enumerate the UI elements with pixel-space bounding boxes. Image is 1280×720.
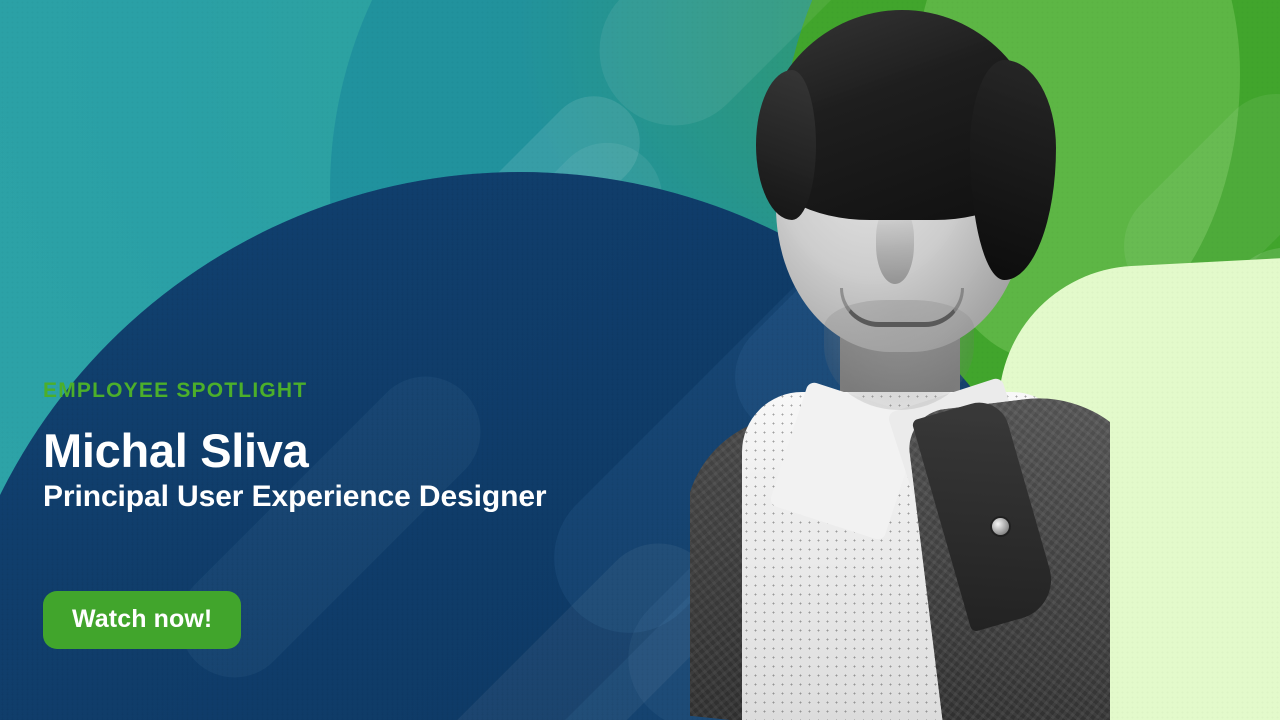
portrait-jacket-button: [992, 518, 1009, 535]
employee-name: Michal Sliva: [43, 427, 663, 476]
portrait-hair-side-left: [756, 70, 816, 220]
employee-spotlight-banner: EMPLOYEE SPOTLIGHT Michal Sliva Principa…: [0, 0, 1280, 720]
portrait-hair-side-right: [970, 60, 1056, 280]
text-block: EMPLOYEE SPOTLIGHT Michal Sliva Principa…: [43, 380, 663, 513]
eyebrow-label: EMPLOYEE SPOTLIGHT: [43, 380, 663, 401]
watch-now-button[interactable]: Watch now!: [43, 591, 241, 649]
portrait-smile: [840, 288, 964, 327]
portrait-photo: [690, 0, 1110, 720]
employee-role: Principal User Experience Designer: [43, 480, 663, 513]
